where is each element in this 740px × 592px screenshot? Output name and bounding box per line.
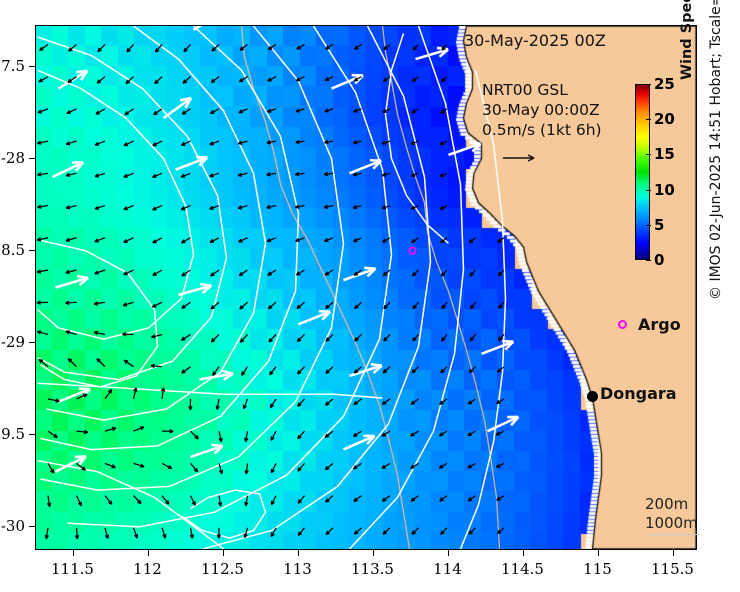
x-axis-label: 111.5 (38, 560, 108, 578)
wind-vector-arrow (271, 431, 276, 440)
y-axis-label: -30 (0, 517, 25, 535)
wind-vector-arrow (182, 109, 190, 114)
wind-vector-arrow (353, 205, 361, 208)
wind-vector-arrow (412, 270, 418, 276)
wind-vector-arrow (105, 427, 116, 431)
wind-vector-arrow (296, 140, 305, 143)
y-axis-tick (29, 342, 35, 343)
wind-vector-arrow (412, 109, 419, 113)
colorbar-gradient (635, 84, 650, 260)
wind-vector-arrow (298, 399, 305, 406)
wind-vector-arrow (326, 334, 333, 341)
wind-vector-arrow (268, 77, 276, 81)
wind-vector-arrow (94, 331, 105, 334)
wind-vector-arrow (123, 302, 133, 306)
colorbar-tick-label: 0 (654, 253, 664, 268)
x-axis-tick (373, 550, 374, 556)
wind-vector-arrow (442, 334, 447, 341)
wind-vector-arrow (210, 173, 219, 176)
wind-vector-arrow (354, 399, 362, 405)
wind-vector-arrow (413, 334, 419, 341)
wind-vector-arrow (267, 205, 276, 208)
wind-vector-arrow (269, 334, 276, 342)
wind-vector-arrow (470, 270, 476, 276)
wind-vector-arrow (412, 77, 418, 82)
streamline (386, 33, 449, 243)
colorbar-tick (646, 84, 651, 85)
wind-vector-arrow (267, 109, 276, 112)
wind-vector-arrow (77, 430, 88, 433)
wind-vector-arrow (211, 77, 219, 83)
wind-vector-arrow (245, 463, 248, 474)
wind-vector-arrow (297, 334, 304, 341)
wind-vector-arrow (496, 463, 504, 467)
streamline (68, 26, 392, 527)
x-axis-tick (223, 550, 224, 556)
wind-vector-arrow (440, 173, 447, 176)
wind-vector-arrow (239, 238, 248, 242)
wind-vector-arrow (355, 334, 362, 341)
current-vector-arrow (176, 157, 208, 170)
depth-200-label: 200m (645, 495, 698, 514)
wind-vector-arrow (97, 359, 105, 367)
y-axis-tick (29, 66, 35, 67)
wind-vector-arrow (184, 44, 191, 51)
wind-vector-arrow (354, 528, 361, 534)
colorbar-tick (646, 119, 651, 120)
y-axis-label: -28 (0, 149, 25, 167)
wind-vector-arrow (124, 360, 133, 366)
wind-vector-arrow (383, 528, 390, 534)
wind-vector-arrow (411, 463, 419, 468)
wind-vector-arrow (383, 238, 390, 242)
wind-vector-arrow (95, 173, 105, 177)
wind-vector-arrow (496, 431, 504, 435)
wind-vector-arrow (66, 173, 76, 176)
wind-vector-arrow (353, 463, 361, 468)
wind-vector-arrow (353, 141, 361, 144)
colorbar-tick (646, 260, 651, 261)
wind-vector-arrow (383, 367, 390, 373)
colorbar-tick (646, 225, 651, 226)
current-vector-arrow (164, 98, 191, 118)
wind-vector-arrow (97, 77, 105, 84)
wind-vector-arrow (441, 528, 447, 534)
wind-vector-arrow (442, 302, 447, 309)
wind-vector-arrow (325, 109, 333, 112)
wind-vector-arrow (105, 389, 112, 398)
wind-vector-arrow (239, 270, 247, 276)
wind-vector-arrow (355, 302, 362, 308)
colorbar: 0510152025 Wind Speed (access-r 3hr avg) (635, 84, 697, 274)
wind-vector-arrow (67, 109, 77, 114)
wind-vector-arrow (96, 109, 105, 114)
wind-vector-arrow (469, 367, 475, 373)
wind-vector-arrow (210, 206, 219, 210)
wind-vector-arrow (181, 238, 190, 243)
depth-1000-line-swatch (647, 534, 699, 535)
x-axis-tick (598, 550, 599, 556)
wind-vector-arrow (94, 302, 105, 305)
colorbar-tick (646, 190, 651, 191)
x-axis-tick (73, 550, 74, 556)
wind-vector-arrow (210, 141, 219, 145)
wind-vector-arrow (95, 270, 105, 274)
wind-vector-arrow (297, 302, 305, 308)
wind-vector-arrow (37, 205, 48, 208)
wind-vector-arrow (268, 270, 276, 275)
wind-vector-arrow (270, 367, 276, 375)
wind-vector-arrow (95, 141, 105, 145)
wind-vector-arrow (183, 77, 190, 84)
wind-vector-arrow (298, 528, 304, 536)
wind-vector-arrow (412, 367, 419, 373)
wind-vector-arrow (326, 528, 333, 535)
wind-vector-arrow (240, 302, 248, 309)
wind-vector-arrow (48, 431, 57, 437)
source-block: NRT00 GSL 30-May 00:00Z 0.5m/s (1kt 6h) (482, 80, 602, 140)
current-vector-arrow (488, 417, 519, 431)
x-axis-tick (298, 550, 299, 556)
colorbar-title: Wind Speed (access-r 3hr avg) (679, 0, 695, 80)
wind-vector-arrow (217, 528, 220, 538)
wind-vector-arrow (441, 77, 447, 82)
wind-vector-arrow (210, 238, 219, 243)
date-stamp: 30-May-2025 00Z (464, 31, 606, 50)
streamline (182, 490, 266, 538)
wind-vector-arrow (75, 528, 78, 539)
wind-vector-arrow (95, 206, 105, 210)
y-axis-tick (29, 250, 35, 251)
y-axis-tick (29, 434, 35, 435)
wind-vector-arrow (38, 109, 48, 113)
x-axis-label: 113.5 (338, 560, 408, 578)
wind-vector-arrow (124, 238, 134, 243)
source-line-model: NRT00 GSL (482, 80, 602, 100)
wind-vector-arrow (470, 302, 475, 308)
wind-vector-arrow (440, 399, 447, 404)
wind-vector-arrow (156, 44, 162, 52)
wind-vector-arrow (190, 528, 193, 538)
wind-vector-arrow (124, 206, 134, 210)
wind-vector-arrow (124, 173, 134, 177)
y-axis-label: -28.5 (0, 241, 25, 259)
wind-vector-arrow (105, 463, 115, 467)
x-axis-label: 113 (263, 560, 333, 578)
source-line-time: 30-May 00:00Z (482, 100, 602, 120)
wind-vector-arrow (295, 172, 304, 175)
wind-vector-arrow (382, 463, 390, 468)
wind-vector-arrow (470, 334, 475, 340)
wind-vector-arrow (134, 496, 142, 504)
wind-vector-arrow (134, 528, 138, 538)
streamline (38, 70, 194, 339)
x-axis-label: 112 (113, 560, 183, 578)
chart-figure: 30-May-2025 00Z NRT00 GSL 30-May 00:00Z … (0, 0, 740, 592)
wind-vector-arrow (499, 302, 504, 308)
wind-vector-arrow (181, 173, 190, 177)
wind-vector-arrow (326, 302, 333, 308)
wind-vector-arrow (324, 140, 333, 143)
wind-vector-arrow (210, 109, 219, 114)
wind-vector-arrow (297, 44, 305, 49)
wind-vector-arrow (468, 431, 476, 435)
wind-vector-arrow (326, 44, 333, 49)
y-axis-tick (29, 526, 35, 527)
colorbar-tick-label: 25 (654, 77, 675, 92)
wind-vector-arrow (37, 301, 48, 304)
argo-marker-icon (618, 320, 627, 329)
wind-vector-arrow (182, 302, 191, 308)
current-vector-arrow (344, 268, 376, 280)
wind-vector-arrow (152, 302, 162, 307)
wind-vector-arrow (238, 206, 247, 209)
wind-vector-arrow (411, 399, 418, 404)
wind-vector-arrow (66, 270, 77, 273)
wind-vector-arrow (325, 270, 333, 275)
y-axis-label: -27.5 (0, 57, 25, 75)
wind-vector-arrow (162, 463, 172, 468)
wind-vector-arrow (125, 109, 134, 115)
wind-vector-arrow (189, 399, 192, 410)
y-axis-label: -29 (0, 333, 25, 351)
wind-vector-arrow (238, 141, 247, 144)
wind-vector-arrow (413, 44, 419, 50)
wind-vector-arrow (127, 44, 134, 52)
wind-vector-arrow (47, 496, 50, 507)
wind-vector-arrow (324, 172, 333, 175)
y-axis-label: -29.5 (0, 425, 25, 443)
wind-vector-arrow (162, 430, 173, 433)
wind-vector-arrow (324, 238, 333, 242)
wind-vector-arrow (469, 238, 475, 243)
wind-vector-arrow (497, 496, 504, 501)
wind-vector-arrow (219, 431, 222, 442)
wind-vector-arrow (37, 331, 48, 335)
wind-vector-arrow (440, 496, 447, 502)
x-axis-tick (148, 550, 149, 556)
wind-vector-arrow (382, 496, 390, 502)
wind-vector-arrow (153, 206, 162, 210)
wind-vector-arrow (134, 463, 145, 467)
wind-vector-arrow (296, 270, 304, 275)
wind-vector-arrow (239, 109, 248, 113)
dongara-marker-icon (587, 391, 598, 402)
wind-vector-arrow (439, 431, 447, 436)
x-axis-label: 114 (413, 560, 483, 578)
wind-vector-arrow (440, 141, 447, 145)
wind-vector-arrow (37, 141, 48, 144)
wind-vector-arrow (161, 388, 164, 399)
x-axis-tick (673, 550, 674, 556)
current-vector-arrow (299, 311, 331, 324)
wind-vector-arrow (468, 463, 476, 467)
argo-legend-item: Argo (618, 315, 681, 334)
wind-vector-arrow (77, 496, 82, 506)
wind-vector-arrow (382, 399, 390, 404)
wind-vector-arrow (105, 528, 108, 539)
wind-vector-arrow (98, 44, 105, 51)
colorbar-tick (646, 154, 651, 155)
wind-vector-arrow (267, 238, 276, 242)
wind-vector-arrow (154, 109, 162, 115)
wind-vector-arrow (124, 141, 133, 145)
map-plot-area[interactable]: 30-May-2025 00Z NRT00 GSL 30-May 00:00Z … (35, 25, 697, 550)
wind-vector-arrow (40, 44, 48, 50)
wind-vector-arrow (468, 496, 475, 501)
wind-vector-arrow (384, 334, 390, 341)
wind-vector-arrow (37, 173, 48, 176)
wind-vector-arrow (181, 141, 190, 145)
wind-vector-arrow (39, 77, 48, 82)
wind-vector-arrow (182, 367, 191, 373)
colorbar-tick-label: 5 (654, 218, 664, 233)
wind-vector-arrow (411, 496, 418, 502)
wind-vector-arrow (66, 206, 76, 209)
wind-vector-arrow (66, 301, 77, 304)
wind-vector-arrow (298, 367, 305, 374)
wind-vector-arrow (181, 334, 190, 340)
wind-vector-arrow (95, 238, 105, 242)
wind-vector-arrow (66, 141, 76, 145)
x-axis-tick (448, 550, 449, 556)
wind-vector-arrow (353, 431, 361, 436)
wind-vector-arrow (412, 238, 419, 243)
wind-vector-arrow (48, 399, 59, 402)
wind-vector-arrow (238, 173, 247, 176)
x-axis-label: 112.5 (188, 560, 258, 578)
wind-vector-arrow (243, 399, 247, 409)
wind-vector-arrow (155, 77, 162, 84)
x-axis-label: 114.5 (488, 560, 558, 578)
wind-vector-arrow (353, 238, 361, 242)
wind-vector-arrow (326, 496, 333, 503)
wind-vector-arrow (153, 270, 162, 275)
wind-vector-arrow (469, 528, 475, 534)
wind-vector-arrow (441, 109, 447, 113)
wind-vector-arrow (268, 302, 276, 309)
wind-vector-arrow (411, 431, 419, 436)
wind-vector-arrow (267, 173, 276, 176)
wind-vector-arrow (271, 496, 276, 505)
current-vector-arrow (332, 75, 363, 88)
wind-vector-arrow (66, 238, 77, 242)
wind-vector-arrow (413, 302, 419, 309)
colorbar-tick-label: 15 (654, 147, 675, 162)
wind-vector-arrow (441, 270, 447, 276)
wind-vector-arrow (270, 399, 276, 408)
wind-vector-arrow (354, 109, 362, 112)
argo-float-marker[interactable] (409, 247, 415, 253)
wind-vector-arrow (325, 463, 333, 469)
x-axis-tick (523, 550, 524, 556)
wind-vector-arrow (354, 496, 362, 502)
wind-vector-arrow (439, 463, 447, 468)
wind-vector-arrow (45, 528, 48, 539)
depth-1000-label: 1000m (645, 514, 698, 533)
streamline (38, 240, 158, 387)
wind-vector-arrow (296, 109, 305, 112)
wind-vector-arrow (296, 77, 304, 81)
wind-vector-arrow (298, 431, 305, 439)
wind-vector-arrow (153, 238, 162, 243)
vector-scale-arrow-icon (502, 151, 542, 165)
wind-vector-arrow (353, 173, 361, 176)
wind-vector-arrow (216, 399, 219, 410)
wind-vector-arrow (191, 431, 199, 439)
current-vector-arrow (200, 371, 233, 380)
current-vector-arrow (482, 341, 514, 354)
x-axis-label: 115 (563, 560, 633, 578)
wind-vector-arrow (355, 44, 362, 49)
colorbar-tick-label: 20 (654, 112, 675, 127)
streamline (461, 70, 506, 549)
wind-vector-arrow (412, 528, 419, 534)
current-vector-arrow (56, 276, 89, 287)
streamline (47, 26, 266, 420)
wind-vector-arrow (191, 496, 196, 506)
wind-vector-arrow (153, 141, 162, 146)
wind-vector-arrow (498, 270, 504, 276)
wind-vector-arrow (441, 367, 447, 373)
wind-vector-arrow (48, 463, 54, 473)
wind-vector-arrow (325, 77, 333, 81)
wind-vector-arrow (242, 367, 248, 376)
wind-vector-arrow (211, 270, 219, 276)
wind-vector-arrow (37, 270, 48, 273)
wind-vector-arrow (68, 359, 76, 367)
wind-vector-arrow (326, 399, 333, 405)
current-vector-arrow (350, 160, 382, 173)
wind-vector-arrow (497, 399, 504, 404)
dongara-label: Dongara (600, 384, 677, 403)
wind-vector-arrow (324, 205, 333, 208)
wind-vector-arrow (383, 77, 390, 82)
x-axis-label: 115.5 (638, 560, 708, 578)
source-line-scale: 0.5m/s (1kt 6h) (482, 120, 602, 140)
wind-vector-arrow (298, 496, 304, 504)
y-axis-tick (29, 158, 35, 159)
wind-vector-arrow (218, 496, 221, 506)
wind-vector-arrow (211, 334, 219, 341)
wind-vector-arrow (440, 206, 447, 210)
wind-vector-arrow (326, 367, 333, 374)
wind-vector-arrow (298, 463, 305, 471)
wind-vector-arrow (468, 399, 475, 404)
wind-vector-arrow (134, 427, 144, 431)
wind-vector-arrow (191, 463, 198, 471)
wind-vector-arrow (271, 463, 276, 472)
streamline (38, 37, 227, 380)
wind-vector-arrow (153, 173, 162, 177)
wind-vector-arrow (105, 496, 112, 505)
wind-vector-arrow (245, 431, 248, 442)
bathymetry-legend: 200m 1000m (645, 495, 698, 533)
wind-vector-arrow (162, 528, 166, 538)
current-vector-arrow (191, 445, 223, 457)
argo-legend-label: Argo (638, 315, 681, 334)
credit-text: © IMOS 02-Jun-2025 14:51 Hobart; Tscale=… (708, 0, 724, 300)
bathymetry-1000m (242, 26, 410, 549)
colorbar-tick-label: 10 (654, 183, 675, 198)
